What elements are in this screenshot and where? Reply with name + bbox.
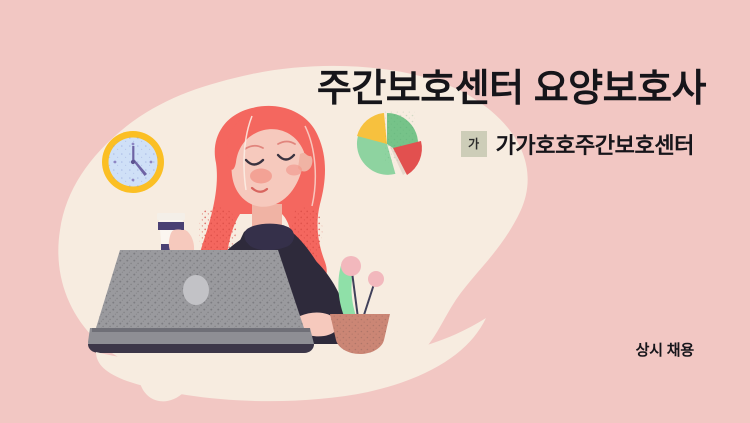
company-row: 가 가가호호주간보호센터: [300, 128, 694, 160]
hiring-status-label: 상시 채용: [494, 339, 694, 360]
job-title: 주간보호센터 요양보호사: [236, 68, 706, 111]
job-posting-banner: 주간보호센터 요양보호사 가 가가호호주간보호센터 상시 채용: [0, 0, 750, 423]
banner-text-layer: 주간보호센터 요양보호사 가 가가호호주간보호센터 상시 채용: [0, 0, 750, 423]
company-name[interactable]: 가가호호주간보호센터: [496, 128, 694, 160]
company-logo-badge: 가: [461, 131, 487, 157]
